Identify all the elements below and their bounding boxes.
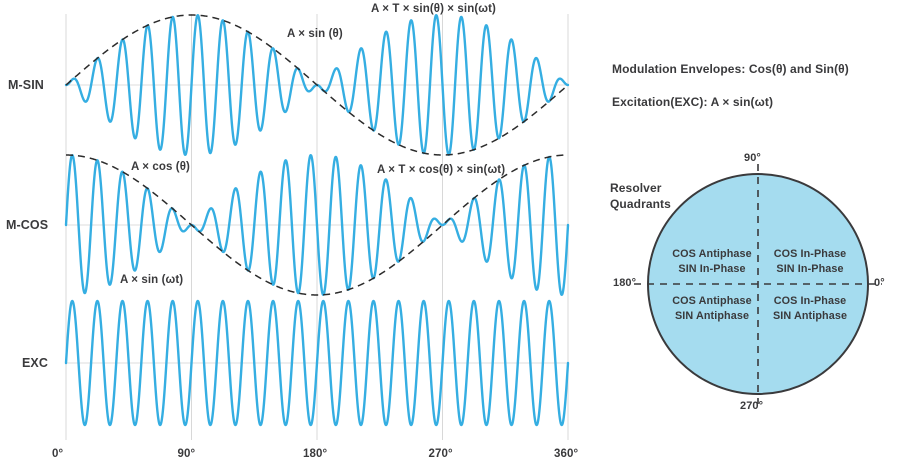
circle-label-0: 0° bbox=[874, 277, 885, 289]
quadrant-top-left-line1: COS Antiphase bbox=[668, 247, 756, 262]
x-tick-90: 90° bbox=[178, 448, 196, 460]
quadrant-top-right-line2: SIN In-Phase bbox=[766, 262, 854, 277]
note-excitation: Excitation(EXC): A × sin(ωt) bbox=[612, 95, 773, 109]
quadrant-bottom-right-line2: SIN Antiphase bbox=[766, 309, 854, 324]
quadrant-bottom-left: COS Antiphase SIN Antiphase bbox=[668, 294, 756, 323]
x-tick-0: 0° bbox=[52, 448, 63, 460]
figure-canvas: M-SIN M-COS EXC A × T × sin(θ) × sin(ωt)… bbox=[0, 0, 900, 470]
circle-label-270: 270° bbox=[740, 400, 763, 412]
annotation-msin-signal: A × T × sin(θ) × sin(ωt) bbox=[371, 3, 496, 15]
x-tick-180: 180° bbox=[303, 448, 327, 460]
resolver-caption-line1: Resolver bbox=[610, 180, 662, 196]
annotation-mcos-envelope: A × cos (θ) bbox=[131, 161, 190, 173]
resolver-caption-line2: Quadrants bbox=[610, 196, 671, 212]
quadrant-top-left: COS Antiphase SIN In-Phase bbox=[668, 247, 756, 276]
annotation-mcos-signal: A × T × cos(θ) × sin(ωt) bbox=[377, 164, 505, 176]
circle-label-180: 180° bbox=[613, 277, 636, 289]
x-tick-360: 360° bbox=[554, 448, 578, 460]
quadrant-bottom-right: COS In-Phase SIN Antiphase bbox=[766, 294, 854, 323]
quadrant-bottom-left-line1: COS Antiphase bbox=[668, 294, 756, 309]
quadrant-top-right: COS In-Phase SIN In-Phase bbox=[766, 247, 854, 276]
quadrant-top-left-line2: SIN In-Phase bbox=[668, 262, 756, 277]
note-modulation-envelopes: Modulation Envelopes: Cos(θ) and Sin(θ) bbox=[612, 62, 849, 76]
x-tick-270: 270° bbox=[429, 448, 453, 460]
row-label-mcos: M-COS bbox=[6, 218, 48, 232]
annotation-msin-envelope: A × sin (θ) bbox=[287, 28, 343, 40]
resolver-quadrant-circle bbox=[634, 164, 882, 404]
circle-label-90: 90° bbox=[744, 152, 761, 164]
annotation-exc-signal: A × sin (ωt) bbox=[120, 274, 183, 286]
quadrant-top-right-line1: COS In-Phase bbox=[766, 247, 854, 262]
row-label-msin: M-SIN bbox=[8, 78, 44, 92]
quadrant-bottom-left-line2: SIN Antiphase bbox=[668, 309, 756, 324]
quadrant-bottom-right-line1: COS In-Phase bbox=[766, 294, 854, 309]
row-label-exc: EXC bbox=[22, 356, 48, 370]
